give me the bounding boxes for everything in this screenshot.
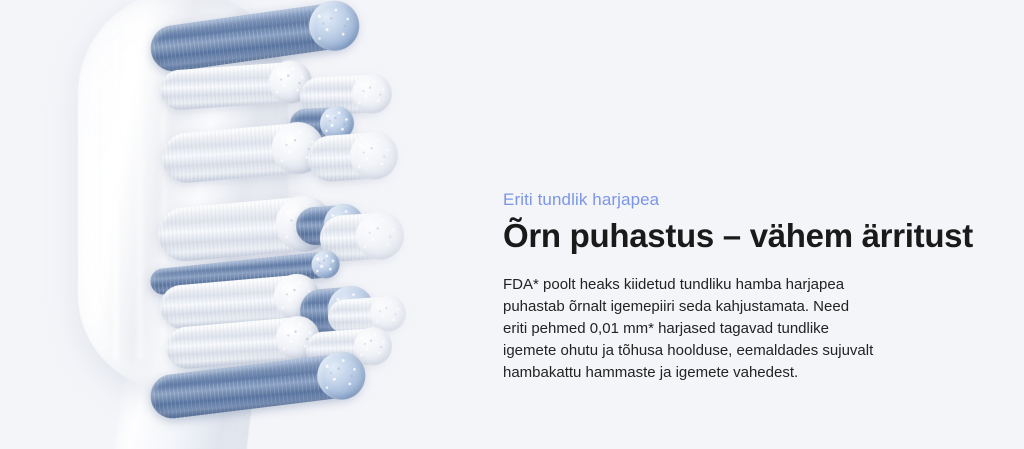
product-image — [0, 0, 470, 449]
eyebrow-label: Eriti tundlik harjapea — [503, 188, 1003, 212]
image-fade-edge — [350, 0, 470, 449]
brush-head-ridge — [112, 40, 120, 360]
brush-head-ridge — [136, 40, 144, 360]
product-feature-section: Eriti tundlik harjapea Õrn puhastus – vä… — [0, 0, 1024, 449]
feature-description: FDA* poolt heaks kiidetud tundliku hamba… — [503, 274, 875, 384]
feature-copy-block: Eriti tundlik harjapea Õrn puhastus – vä… — [503, 188, 1003, 384]
page-title: Õrn puhastus – vähem ärritust — [503, 216, 1003, 256]
